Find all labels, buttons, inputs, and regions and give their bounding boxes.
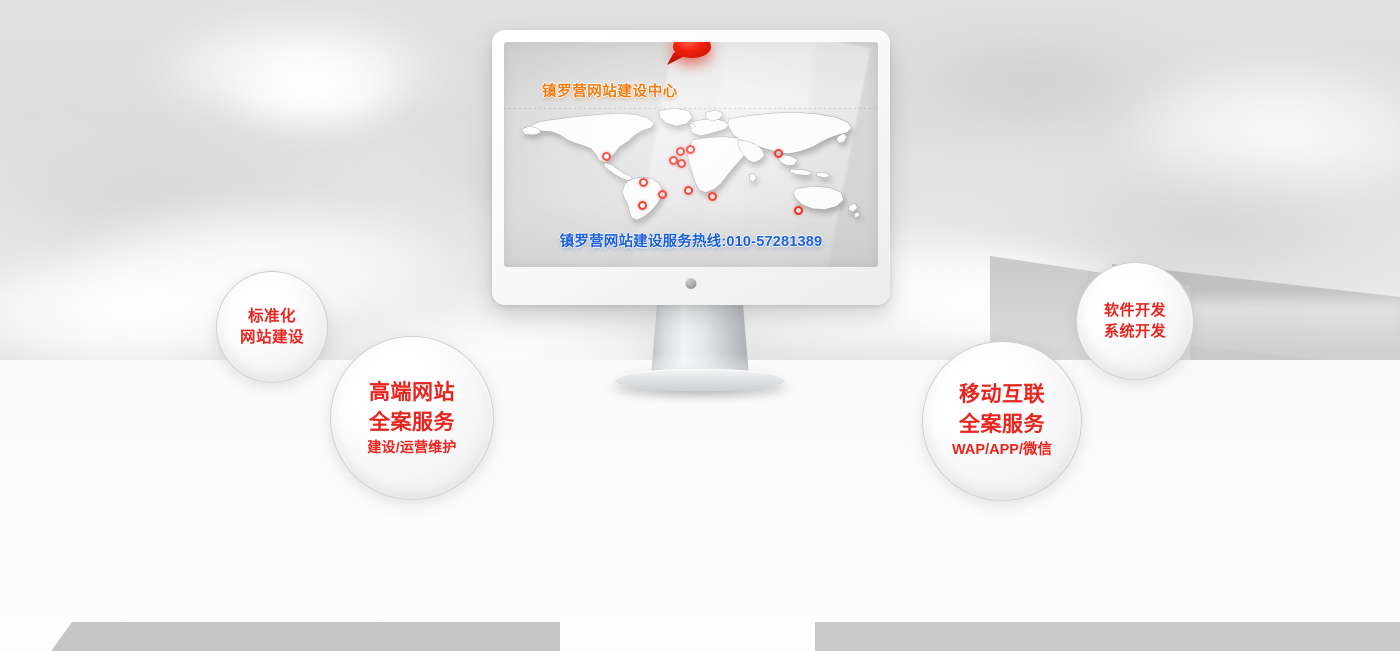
- monitor-stand-base: [615, 369, 785, 391]
- bubble-standard-website[interactable]: 标准化 网站建设: [216, 271, 328, 383]
- floor-tile-back-left: [0, 622, 560, 651]
- bubble-line-3: WAP/APP/微信: [952, 440, 1052, 462]
- cloud-shape: [230, 50, 400, 130]
- screen-headline: 镇罗营网站建设中心: [542, 80, 678, 101]
- monitor-stand-neck: [649, 304, 751, 376]
- service-hotline-text: 镇罗营网站建设服务热线:010-57281389: [560, 230, 823, 251]
- perspective-floor: [0, 360, 1400, 651]
- bubble-high-end-website[interactable]: 高端网站 全案服务 建设/运营维护: [330, 336, 494, 500]
- bubble-line-2: 系统开发: [1104, 321, 1166, 342]
- bubble-line-1: 高端网站: [369, 378, 455, 408]
- webcam-icon: [686, 278, 697, 289]
- map-pin-icon: [667, 42, 711, 68]
- bubble-line-1: 移动互联: [959, 380, 1045, 410]
- computer-monitor: 镇罗营网站建设中心 镇罗营网站建设服务热线:010-57281389: [492, 30, 890, 305]
- bubble-line-2: 全案服务: [959, 410, 1045, 440]
- bubble-software-development[interactable]: 软件开发 系统开发: [1076, 262, 1194, 380]
- floor-tile-back-right: [815, 622, 1400, 651]
- bubble-line-1: 标准化: [248, 306, 296, 327]
- bubble-line-2: 网站建设: [240, 327, 304, 348]
- bubble-line-1: 软件开发: [1104, 300, 1166, 321]
- banner-stage: 镇罗营网站建设中心 镇罗营网站建设服务热线:010-57281389 标准化 网…: [0, 0, 1400, 651]
- monitor-screen: 镇罗营网站建设中心 镇罗营网站建设服务热线:010-57281389: [504, 42, 878, 267]
- bubble-mobile-internet[interactable]: 移动互联 全案服务 WAP/APP/微信: [922, 341, 1082, 501]
- bubble-line-2: 全案服务: [369, 408, 455, 438]
- bubble-line-3: 建设/运营维护: [367, 437, 456, 458]
